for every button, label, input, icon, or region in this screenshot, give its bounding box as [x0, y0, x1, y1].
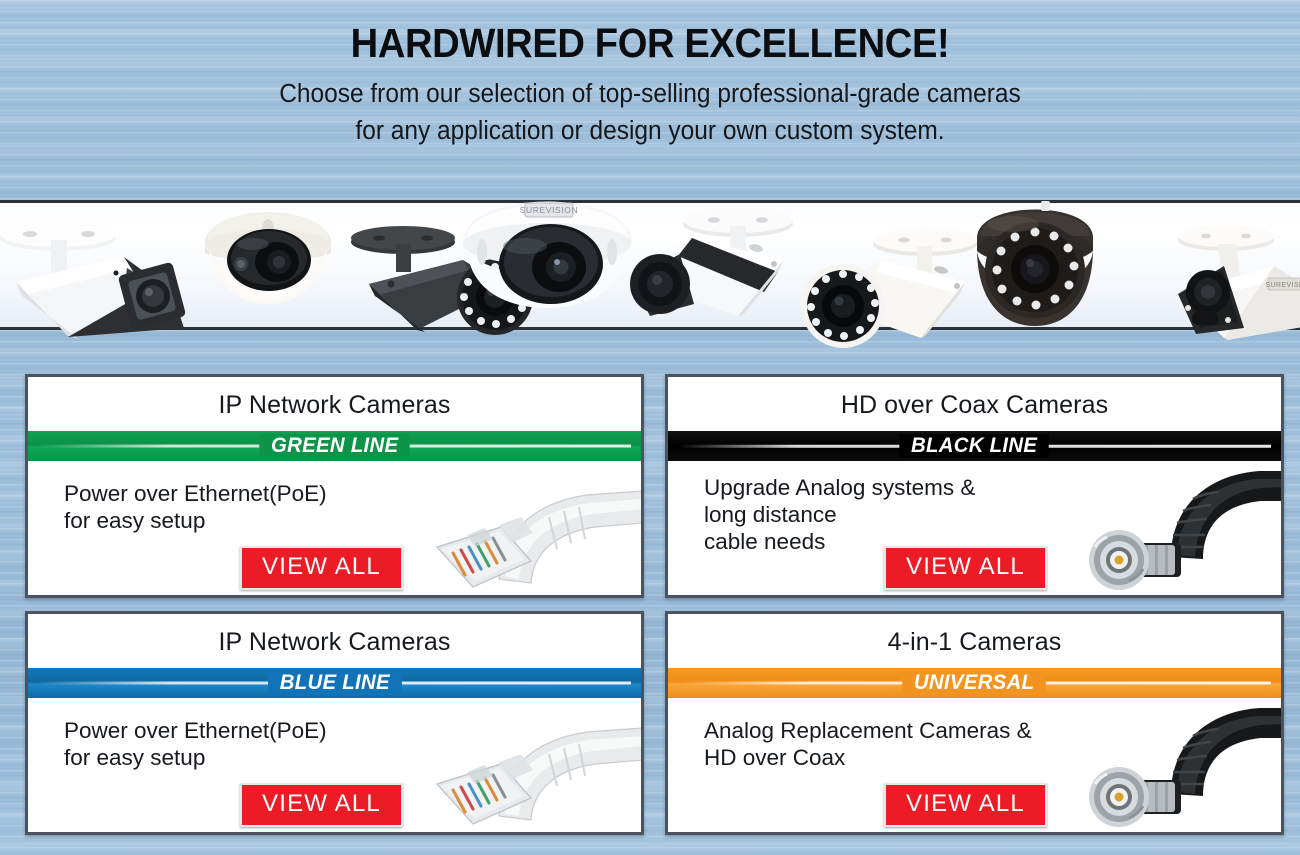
dark-turret-camera-ir	[955, 190, 1115, 340]
subheadline-line-2: for any application or design your own c…	[26, 113, 1274, 150]
header: HARDWIRED FOR EXCELLENCE! Choose from ou…	[0, 0, 1300, 149]
card-band-black: BLACK LINE	[668, 431, 1281, 461]
card-body: Power over Ethernet(PoE) for easy setup …	[28, 698, 641, 830]
camera-brand-label-2: SUREVISION	[1265, 282, 1300, 289]
card-body: Analog Replacement Cameras & HD over Coa…	[668, 698, 1281, 830]
card-title: HD over Coax Cameras	[668, 377, 1281, 431]
page-subheadline: Choose from our selection of top-selling…	[26, 76, 1274, 149]
band-label: GREEN LINE	[259, 434, 410, 458]
card-ip-network-blue[interactable]: IP Network Cameras BLUE LINE Power ov	[25, 611, 644, 835]
bnc-coax-connector-icon	[1021, 698, 1281, 830]
view-all-button[interactable]: VIEW ALL	[884, 546, 1047, 590]
page-headline: HARDWIRED FOR EXCELLENCE!	[46, 22, 1255, 65]
view-all-button[interactable]: VIEW ALL	[884, 783, 1047, 827]
camera-brand-label: SUREVISION	[520, 205, 578, 215]
rj45-ethernet-connector-icon	[381, 698, 641, 830]
card-body: Power over Ethernet(PoE) for easy setup …	[28, 461, 641, 593]
card-body: Upgrade Analog systems & long distance c…	[668, 461, 1281, 593]
card-description: Power over Ethernet(PoE) for easy setup	[64, 481, 327, 535]
card-band-orange: UNIVERSAL	[668, 668, 1281, 698]
white-mini-bullet-camera: SUREVISION	[1148, 200, 1300, 350]
view-all-button[interactable]: VIEW ALL	[240, 546, 403, 590]
camera-product-row: SUREVISION	[0, 168, 1300, 358]
white-dome-camera-vandal	[193, 182, 343, 322]
card-description: Power over Ethernet(PoE) for easy setup	[64, 718, 327, 772]
rj45-ethernet-connector-icon	[381, 461, 641, 593]
band-label: BLUE LINE	[268, 671, 401, 695]
card-band-green: GREEN LINE	[28, 431, 641, 461]
card-band-blue: BLUE LINE	[28, 668, 641, 698]
card-four-in-one-universal[interactable]: 4-in-1 Cameras UNIVERSAL	[665, 611, 1284, 835]
card-title: IP Network Cameras	[28, 614, 641, 668]
card-description: Analog Replacement Cameras & HD over Coa…	[704, 718, 1032, 772]
card-hd-over-coax-black[interactable]: HD over Coax Cameras BLACK LINE	[665, 374, 1284, 598]
band-label: BLACK LINE	[900, 434, 1050, 458]
view-all-button[interactable]: VIEW ALL	[240, 783, 403, 827]
band-label: UNIVERSAL	[903, 671, 1047, 695]
bnc-coax-connector-icon	[1021, 461, 1281, 593]
card-description: Upgrade Analog systems & long distance c…	[704, 475, 975, 555]
subheadline-line-1: Choose from our selection of top-selling…	[26, 76, 1274, 113]
card-title: 4-in-1 Cameras	[668, 614, 1281, 668]
card-title: IP Network Cameras	[28, 377, 641, 431]
card-ip-network-green[interactable]: IP Network Cameras GREEN LINE Po	[25, 374, 644, 598]
